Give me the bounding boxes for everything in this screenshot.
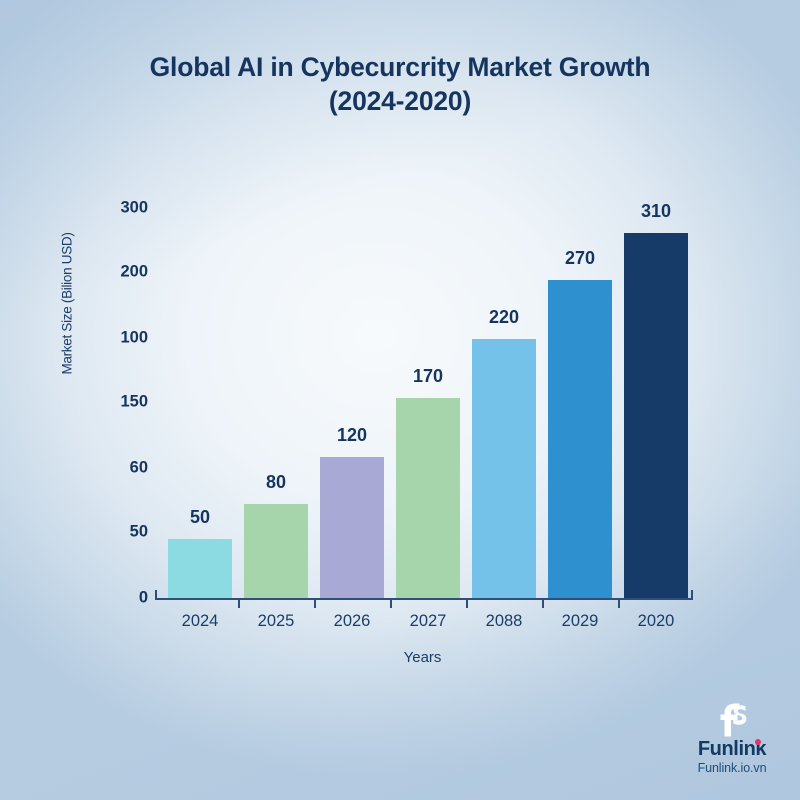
x-axis-tick-mark: [238, 599, 240, 608]
y-axis-tick-label: 60: [88, 459, 148, 478]
y-axis-tick-label: 100: [88, 329, 148, 348]
x-axis-left-cap: [155, 590, 157, 600]
y-axis-tick-label: 200: [88, 263, 148, 282]
y-axis-title: Market Size (Bilion USD): [60, 189, 75, 419]
x-axis-tick-mark: [390, 599, 392, 608]
x-axis-tick-label: 2026: [320, 612, 384, 631]
bar[interactable]: [548, 280, 612, 598]
funlink-brand-name: Funlink: [698, 738, 766, 760]
y-axis-tick-label: 300: [88, 199, 148, 218]
funlink-watermark: Funlink Funlink.io.vn: [676, 702, 788, 776]
funlink-dot-icon: [755, 739, 761, 745]
x-axis-tick-label: 2029: [548, 612, 612, 631]
bar-value-label: 80: [231, 472, 321, 493]
bar[interactable]: [320, 457, 384, 598]
x-axis-tick-label: 2024: [168, 612, 232, 631]
y-axis-tick-label: 0: [88, 589, 148, 608]
y-axis-tick-label: 50: [88, 523, 148, 542]
x-axis-title: Years: [150, 649, 695, 666]
bar[interactable]: [244, 504, 308, 598]
bar[interactable]: [168, 539, 232, 598]
funlink-f-icon: [676, 702, 788, 738]
chart-title-line1: Global AI in Cybecurcrity Market Growth: [150, 52, 651, 82]
y-axis-ticks: 30020010015060500: [88, 0, 148, 800]
bar[interactable]: [472, 339, 536, 598]
page-title: Global AI in Cybecurcrity Market Growth …: [0, 50, 800, 118]
bar[interactable]: [624, 233, 688, 598]
x-axis-tick-label: 2027: [396, 612, 460, 631]
funlink-url: Funlink.io.vn: [676, 760, 788, 776]
x-axis-tick-mark: [466, 599, 468, 608]
chart-canvas: Global AI in Cybecurcrity Market Growth …: [0, 0, 800, 800]
x-axis-line: [155, 598, 693, 600]
bar-value-label: 220: [459, 307, 549, 328]
bar-value-label: 310: [611, 201, 701, 222]
x-axis-tick-mark: [542, 599, 544, 608]
y-axis-tick-label: 150: [88, 393, 148, 412]
bar[interactable]: [396, 398, 460, 598]
x-axis-tick-mark: [314, 599, 316, 608]
plot-area: Market Size (Bilion USD) Years 300200100…: [0, 0, 800, 800]
x-axis-right-cap: [691, 590, 693, 600]
x-axis-tick-label: 2025: [244, 612, 308, 631]
bar-value-label: 50: [155, 507, 245, 528]
bar-value-label: 120: [307, 425, 397, 446]
x-axis-tick-label: 2088: [472, 612, 536, 631]
x-axis-tick-mark: [618, 599, 620, 608]
bar-value-label: 270: [535, 248, 625, 269]
x-axis-tick-label: 2020: [624, 612, 688, 631]
bar-value-label: 170: [383, 366, 473, 387]
chart-title-line2: (2024-2020): [0, 84, 800, 118]
